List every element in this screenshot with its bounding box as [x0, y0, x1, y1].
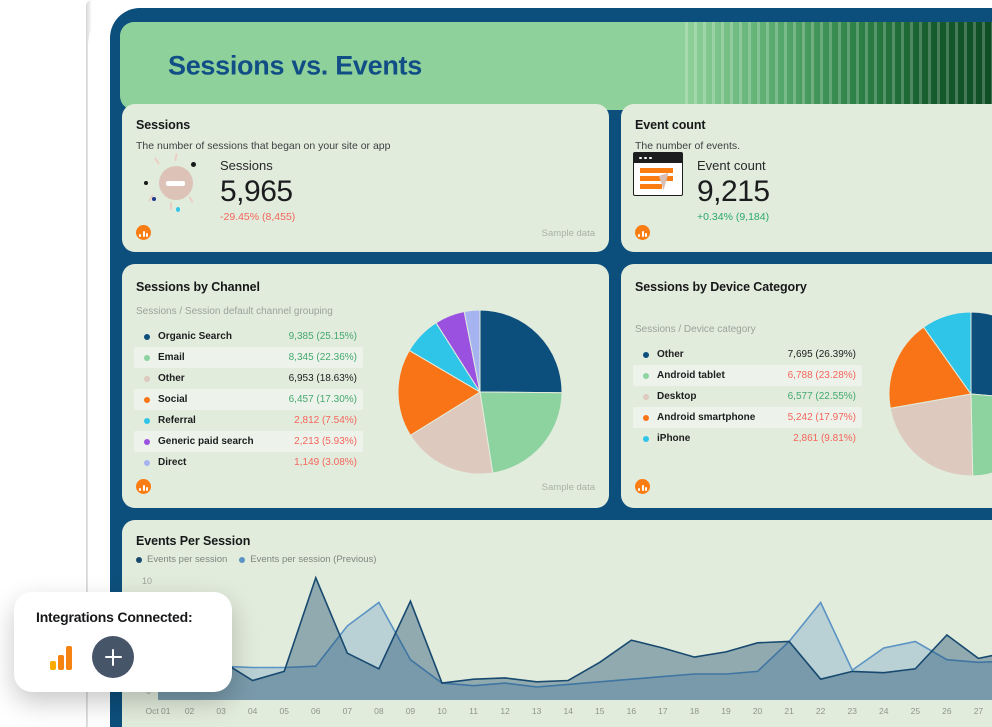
channel-legend-item-row[interactable]: Social6,457 (17.30%): [134, 389, 363, 410]
x-axis-tick-label: 25: [911, 706, 920, 716]
event-count-card-description: The number of events.: [635, 140, 740, 152]
events-area-chart: [158, 570, 992, 700]
events-chart-legend: Events per sessionEvents per session (Pr…: [136, 554, 376, 565]
x-axis-tick-label: 19: [721, 706, 730, 716]
x-axis-tick-label: 20: [753, 706, 762, 716]
x-axis-tick-label: 24: [879, 706, 888, 716]
sessions-by-device-category-card: Sessions by Device Category Sessions / D…: [621, 264, 992, 508]
events-per-session-card: Events Per Session Events per sessionEve…: [122, 520, 992, 727]
legend-color-dot-icon: [144, 355, 150, 361]
page-title: Sessions vs. Events: [168, 51, 422, 82]
legend-color-dot-icon: [643, 373, 649, 379]
legend-label: Email: [158, 352, 185, 363]
x-axis-tick-label: 02: [185, 706, 194, 716]
events-card-title: Events Per Session: [136, 534, 250, 548]
x-axis-tick-label: 10: [437, 706, 446, 716]
device-legend-item-row[interactable]: Desktop6,577 (22.55%): [633, 386, 862, 407]
events-legend-entry[interactable]: Events per session (Previous): [239, 554, 376, 565]
channel-card-dimension: Sessions / Session default channel group…: [136, 306, 333, 317]
legend-value: 8,345 (22.36%): [289, 352, 357, 363]
legend-color-dot-icon: [144, 418, 150, 424]
legend-label: Generic paid search: [158, 436, 254, 447]
x-axis-tick-label: 21: [784, 706, 793, 716]
header-stripe-decoration: [685, 22, 992, 110]
channel-legend-item-row[interactable]: Generic paid search2,213 (5.93%): [134, 431, 363, 452]
event-count-metric-value: 9,215: [697, 176, 770, 208]
device-legend-item-row[interactable]: Android tablet6,788 (23.28%): [633, 365, 862, 386]
legend-color-dot-icon: [643, 415, 649, 421]
device-card-dimension: Sessions / Device category: [635, 324, 756, 335]
event-count-metric-delta: +0.34% (9,184): [697, 211, 769, 223]
x-axis-tick-label: 26: [942, 706, 951, 716]
x-axis-tick-label: 13: [532, 706, 541, 716]
event-count-card-title: Event count: [635, 118, 705, 132]
sessions-sample-data-note: Sample data: [542, 228, 595, 239]
legend-value: 2,861 (9.81%): [793, 433, 856, 444]
x-axis-tick-label: 14: [563, 706, 572, 716]
legend-value: 9,385 (25.15%): [289, 331, 357, 342]
legend-color-dot-icon: [643, 436, 649, 442]
legend-color-dot-icon: [144, 397, 150, 403]
x-axis-tick-label: Oct 01: [145, 706, 170, 716]
integrations-connected-card: Integrations Connected:: [14, 592, 232, 692]
legend-label: Other: [657, 349, 684, 360]
x-axis-tick-label: 23: [847, 706, 856, 716]
x-axis-tick-label: 27: [974, 706, 983, 716]
google-analytics-badge-icon[interactable]: [136, 479, 151, 494]
sessions-metric-delta: -29.45% (8,455): [220, 211, 295, 223]
x-axis-tick-label: 04: [248, 706, 257, 716]
legend-value: 6,788 (23.28%): [788, 370, 856, 381]
events-x-axis: Oct 010203040506070809101112131415161718…: [158, 706, 992, 722]
device-legend-item-row[interactable]: iPhone2,861 (9.81%): [633, 428, 862, 449]
sessions-card-description: The number of sessions that began on you…: [136, 140, 391, 152]
channel-legend-item-row[interactable]: Direct1,149 (3.08%): [134, 452, 363, 473]
x-axis-tick-label: 16: [627, 706, 636, 716]
legend-color-dot-icon: [144, 460, 150, 466]
events-legend-label: Events per session (Previous): [250, 554, 376, 565]
events-y-tick-top: 10: [142, 576, 152, 586]
pie-slice[interactable]: [480, 310, 562, 393]
device-legend-item-row[interactable]: Other7,695 (26.39%): [633, 344, 862, 365]
sessions-kpi-card: Sessions The number of sessions that beg…: [122, 104, 609, 252]
pie-slice[interactable]: [971, 394, 992, 476]
x-axis-tick-label: 08: [374, 706, 383, 716]
sessions-metric-label: Sessions: [220, 158, 273, 173]
device-legend-list: Other7,695 (26.39%)Android tablet6,788 (…: [633, 344, 862, 449]
channel-legend-item-row[interactable]: Other6,953 (18.63%): [134, 368, 363, 389]
device-legend-item-row[interactable]: Android smartphone5,242 (17.97%): [633, 407, 862, 428]
x-axis-tick-label: 11: [469, 706, 478, 716]
sessions-card-title: Sessions: [136, 118, 190, 132]
x-axis-tick-label: 17: [658, 706, 667, 716]
legend-label: Referral: [158, 415, 196, 426]
legend-color-dot-icon: [239, 557, 245, 563]
legend-value: 7,695 (26.39%): [788, 349, 856, 360]
legend-label: Android smartphone: [657, 412, 755, 423]
legend-value: 6,953 (18.63%): [289, 373, 357, 384]
google-analytics-badge-icon[interactable]: [635, 479, 650, 494]
legend-label: Organic Search: [158, 331, 232, 342]
pie-slice[interactable]: [971, 312, 992, 401]
integrations-title: Integrations Connected:: [36, 609, 192, 625]
sessions-sun-icon: [144, 152, 206, 214]
channel-legend-item-row[interactable]: Email8,345 (22.36%): [134, 347, 363, 368]
legend-label: iPhone: [657, 433, 690, 444]
google-analytics-badge-icon[interactable]: [136, 225, 151, 240]
x-axis-tick-label: 06: [311, 706, 320, 716]
add-integration-button[interactable]: [92, 636, 134, 678]
events-legend-label: Events per session: [147, 554, 227, 565]
x-axis-tick-label: 09: [406, 706, 415, 716]
device-pie-chart: [885, 308, 992, 480]
legend-value: 5,242 (17.97%): [788, 412, 856, 423]
legend-value: 1,149 (3.08%): [294, 457, 357, 468]
x-axis-tick-label: 03: [216, 706, 225, 716]
x-axis-tick-label: 22: [816, 706, 825, 716]
legend-color-dot-icon: [643, 394, 649, 400]
google-analytics-logo-icon[interactable]: [50, 644, 76, 670]
legend-color-dot-icon: [643, 352, 649, 358]
pie-slice[interactable]: [480, 392, 562, 473]
x-axis-tick-label: 05: [279, 706, 288, 716]
event-count-metric-label: Event count: [697, 158, 766, 173]
legend-color-dot-icon: [144, 334, 150, 340]
legend-value: 6,577 (22.55%): [788, 391, 856, 402]
legend-value: 6,457 (17.30%): [289, 394, 357, 405]
x-axis-tick-label: 07: [343, 706, 352, 716]
x-axis-tick-label: 18: [690, 706, 699, 716]
channel-legend-item-row[interactable]: Organic Search9,385 (25.15%): [134, 326, 363, 347]
sessions-by-channel-card: Sessions by Channel Sessions / Session d…: [122, 264, 609, 508]
device-card-title: Sessions by Device Category: [635, 280, 807, 294]
legend-color-dot-icon: [144, 376, 150, 382]
events-legend-entry[interactable]: Events per session: [136, 554, 227, 565]
sessions-metric-value: 5,965: [220, 176, 293, 208]
legend-label: Direct: [158, 457, 186, 468]
google-analytics-badge-icon[interactable]: [635, 225, 650, 240]
channel-legend-list: Organic Search9,385 (25.15%)Email8,345 (…: [134, 326, 363, 473]
legend-label: Social: [158, 394, 187, 405]
dashboard-header-banner: Sessions vs. Events: [120, 22, 992, 110]
x-axis-tick-label: 15: [595, 706, 604, 716]
channel-card-title: Sessions by Channel: [136, 280, 260, 294]
x-axis-tick-label: 12: [500, 706, 509, 716]
browser-window-cursor-icon: [633, 152, 683, 196]
legend-label: Android tablet: [657, 370, 725, 381]
channel-legend-item-row[interactable]: Referral2,812 (7.54%): [134, 410, 363, 431]
event-count-kpi-card: Event count The number of events. Event …: [621, 104, 992, 252]
legend-color-dot-icon: [136, 557, 142, 563]
legend-label: Other: [158, 373, 185, 384]
channel-sample-data-note: Sample data: [542, 482, 595, 493]
legend-value: 2,213 (5.93%): [294, 436, 357, 447]
legend-label: Desktop: [657, 391, 696, 402]
chart-area-current: [158, 578, 992, 700]
channel-pie-chart: [394, 306, 566, 478]
legend-color-dot-icon: [144, 439, 150, 445]
legend-value: 2,812 (7.54%): [294, 415, 357, 426]
